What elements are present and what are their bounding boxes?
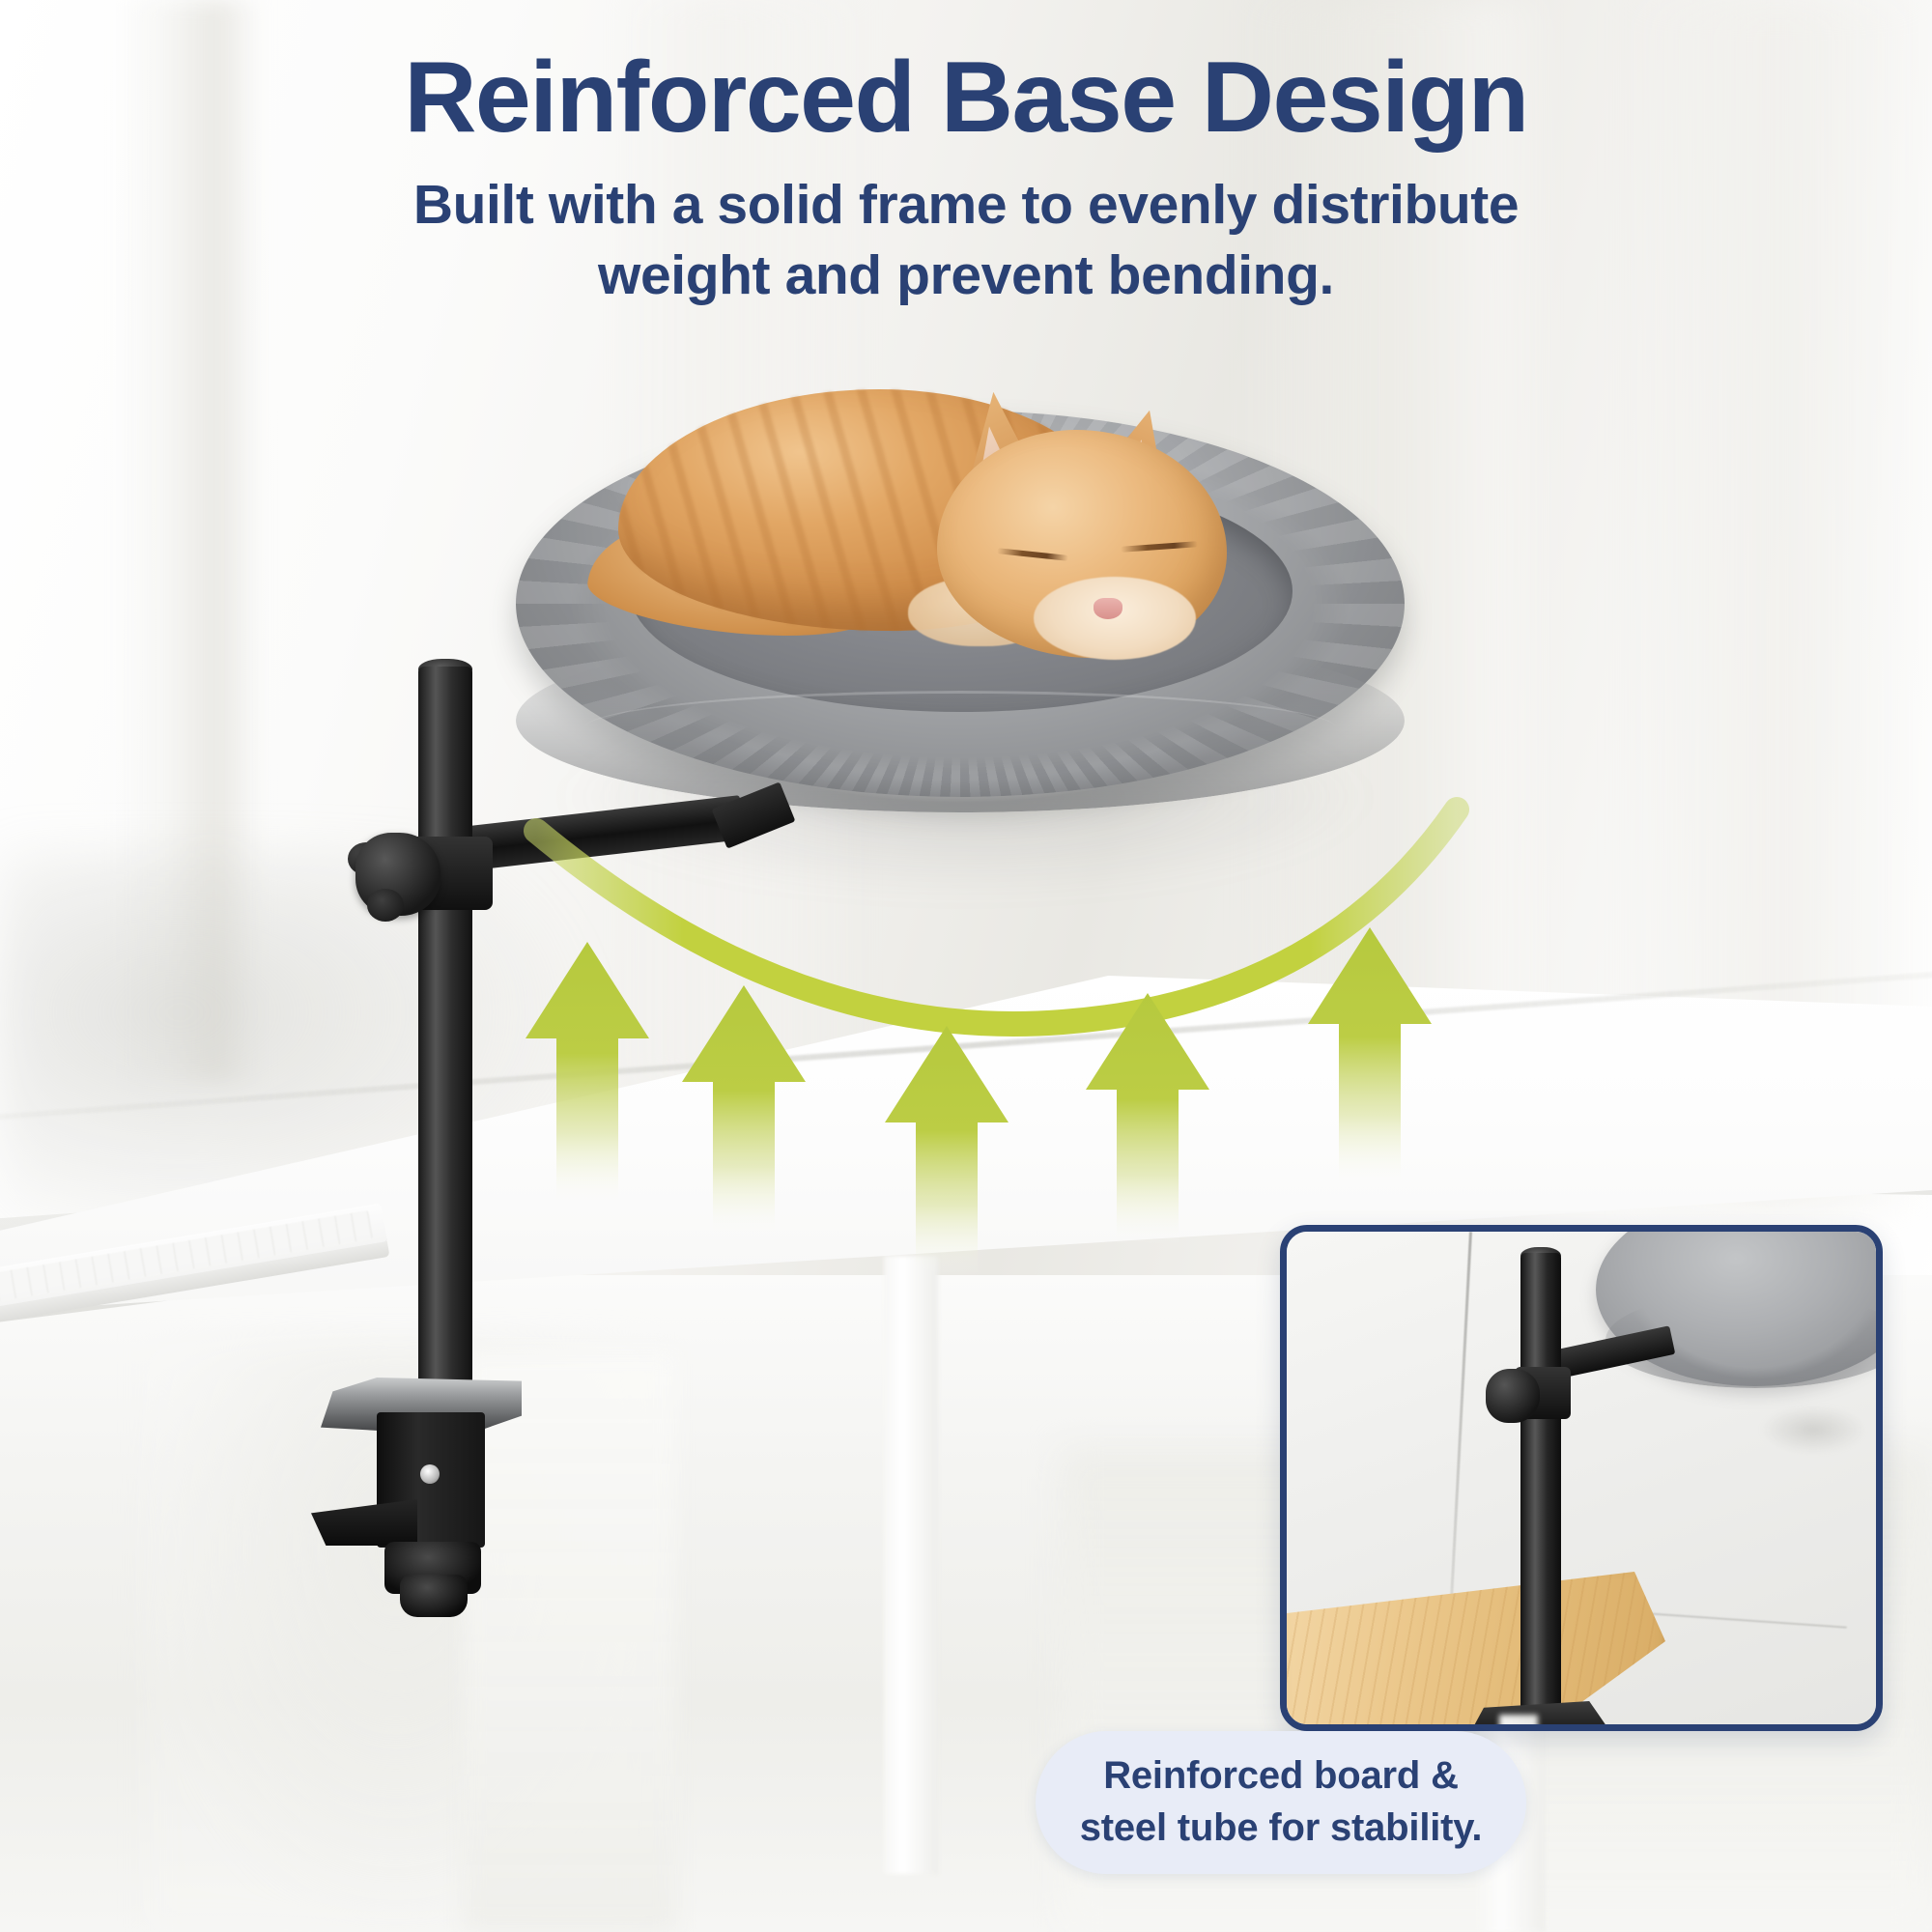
knob-lobe-lower	[367, 889, 404, 922]
clamp-screw-hole	[420, 1464, 440, 1484]
caption-line-1: Reinforced board &	[1103, 1754, 1459, 1797]
subtitle-line-1: Built with a solid frame to evenly distr…	[413, 174, 1519, 236]
support-arm	[451, 795, 744, 872]
support-arm-tip	[712, 781, 796, 848]
inset-wall-smudge	[1760, 1406, 1866, 1454]
callout-caption-pill: Reinforced board & steel tube for stabil…	[1036, 1731, 1526, 1874]
page-subtitle: Built with a solid frame to evenly distr…	[251, 170, 1681, 311]
inset-desk-leg	[1499, 1715, 1538, 1731]
header-block: Reinforced Base Design Built with a soli…	[0, 46, 1932, 311]
callout-caption-text: Reinforced board & steel tube for stabil…	[1080, 1750, 1483, 1854]
inset-detail-panel	[1280, 1225, 1883, 1731]
product-infographic: Reinforced Base Design Built with a soli…	[0, 0, 1932, 1932]
page-title: Reinforced Base Design	[0, 46, 1932, 149]
inset-steel-pole	[1520, 1253, 1561, 1717]
clamp-screw-knob	[400, 1575, 468, 1617]
clamp-jaw	[311, 1499, 417, 1546]
steel-pole	[418, 667, 472, 1439]
subtitle-line-2: weight and prevent bending.	[598, 244, 1334, 306]
caption-line-2: steel tube for stability.	[1080, 1806, 1483, 1849]
inset-adjustment-knob	[1486, 1369, 1540, 1423]
